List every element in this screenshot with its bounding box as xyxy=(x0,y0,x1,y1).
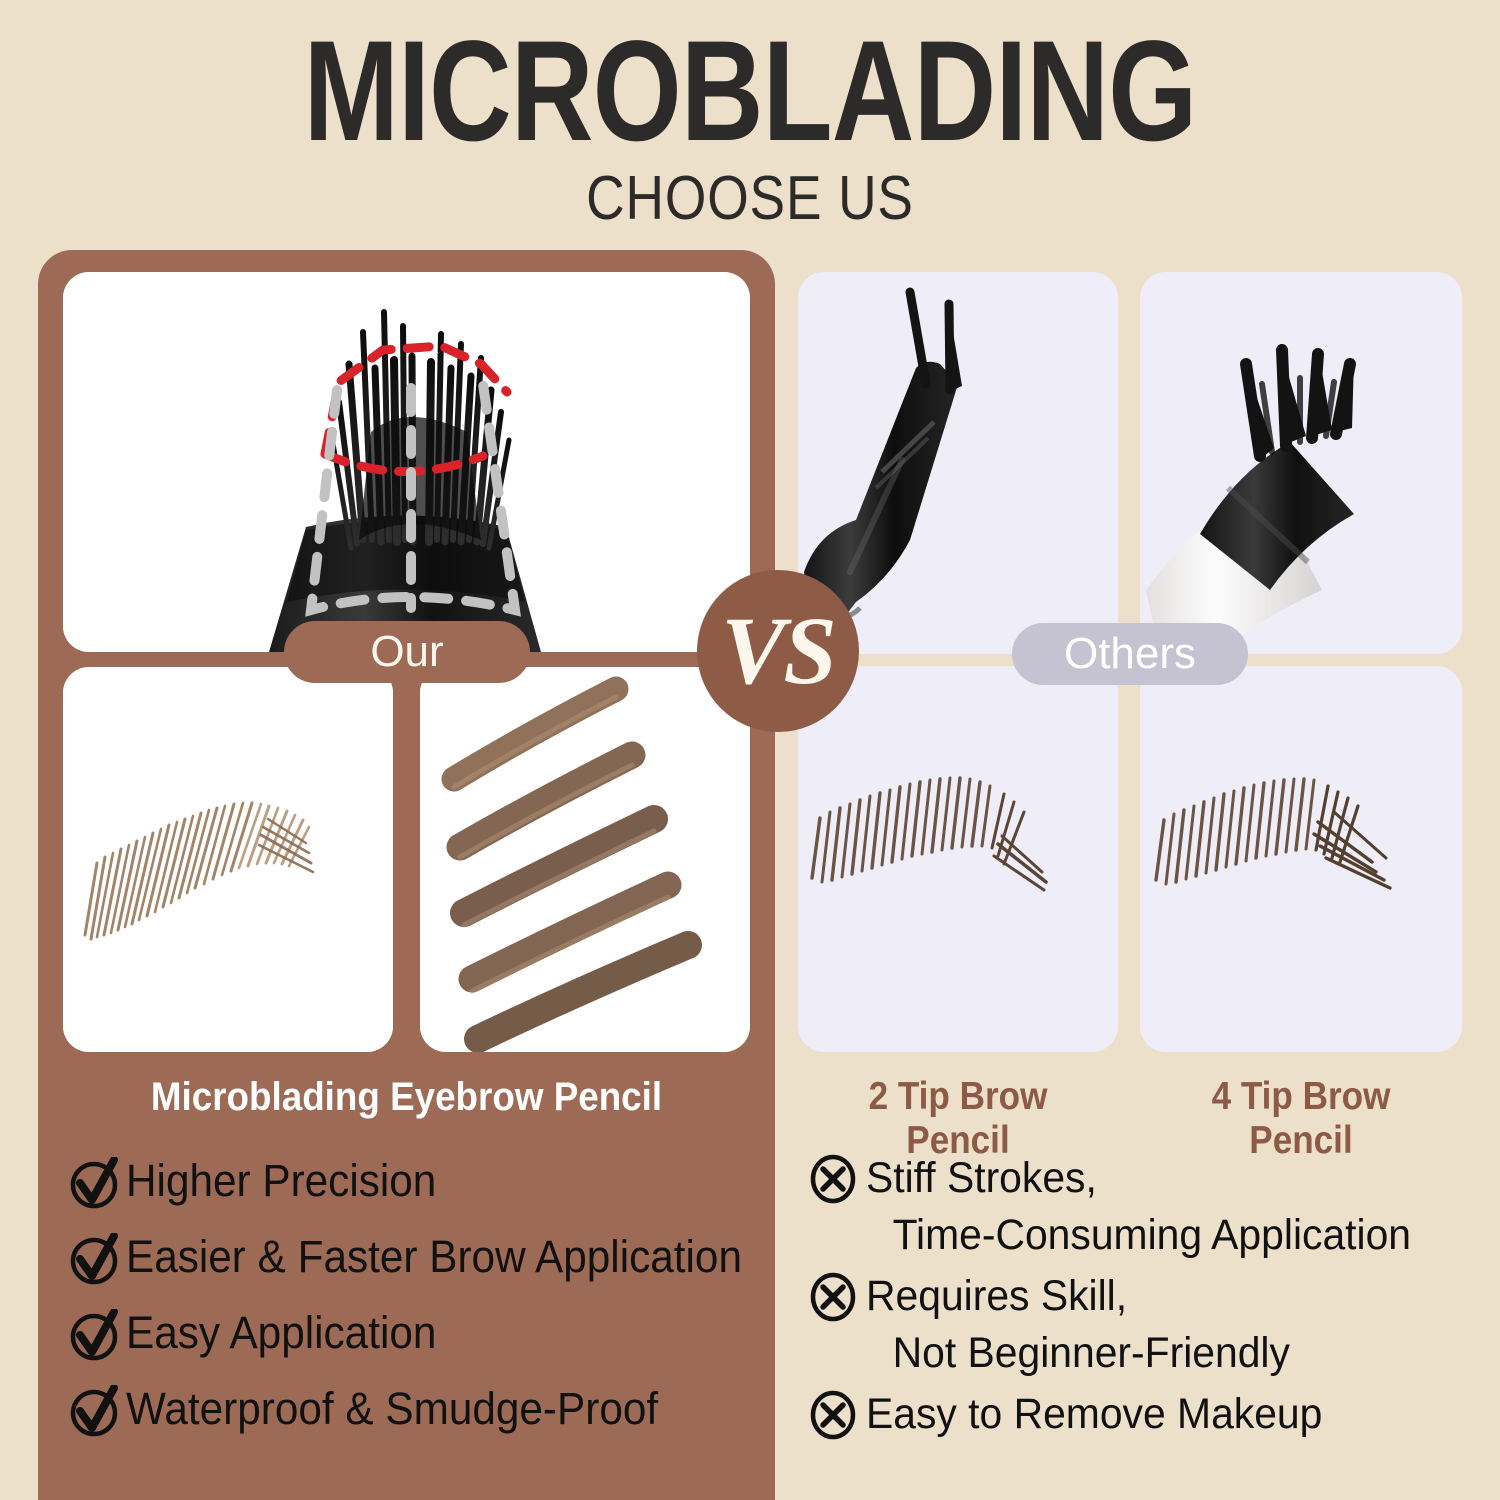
drawback-line-1: Stiff Strokes, xyxy=(866,1150,1438,1207)
vs-badge: VS xyxy=(697,570,859,732)
microblading-brush-tip-photo xyxy=(63,272,750,652)
feature-label: Higher Precision xyxy=(126,1155,436,1207)
feature-item: Easy Application xyxy=(68,1307,778,1363)
color-swatch-strokes-photo xyxy=(420,667,750,1052)
two-tip-brow-swatch-photo xyxy=(798,666,1118,1052)
drawback-item: Easy to Remove Makeup xyxy=(808,1386,1468,1443)
four-tip-pen-photo xyxy=(1140,272,1462,654)
x-circle-icon xyxy=(808,1272,858,1322)
our-feature-list: Higher Precision Easier & Faster Brow Ap… xyxy=(68,1155,778,1459)
page-subtitle: CHOOSE US xyxy=(105,168,1395,230)
check-circle-icon xyxy=(68,1233,120,1285)
header-block: MICROBLADING CHOOSE US xyxy=(0,0,1500,240)
feature-item: Waterproof & Smudge-Proof xyxy=(68,1383,778,1439)
drawback-line-2: Time-Consuming Application xyxy=(866,1207,1438,1264)
our-badge: Our xyxy=(284,621,530,683)
feature-label: Easier & Faster Brow Application xyxy=(126,1231,742,1283)
others-drawback-list: Stiff Strokes, Time-Consuming Applicatio… xyxy=(808,1150,1468,1447)
two-tip-pen-photo xyxy=(798,272,1118,654)
feature-label: Easy Application xyxy=(126,1307,436,1359)
check-circle-icon xyxy=(68,1309,120,1361)
x-circle-icon xyxy=(808,1154,858,1204)
drawback-line-2: Not Beginner-Friendly xyxy=(866,1325,1438,1382)
drawback-item: Requires Skill, Not Beginner-Friendly xyxy=(808,1268,1468,1382)
others-badge: Others xyxy=(1012,623,1248,685)
drawback-line-1: Requires Skill, xyxy=(866,1268,1438,1325)
x-circle-icon xyxy=(808,1390,858,1440)
four-tip-brow-swatch-photo xyxy=(1140,666,1462,1052)
drawback-item: Stiff Strokes, Time-Consuming Applicatio… xyxy=(808,1150,1468,1264)
our-product-label: Microblading Eyebrow Pencil xyxy=(67,1075,745,1120)
page-title: MICROBLADING xyxy=(150,20,1350,163)
check-circle-icon xyxy=(68,1157,120,1209)
others-product-area: 2 Tip Brow Pencil 4 Tip Brow Pencil Stif… xyxy=(798,250,1462,1500)
drawback-line-1: Easy to Remove Makeup xyxy=(866,1386,1438,1443)
feature-item: Higher Precision xyxy=(68,1155,778,1211)
feature-item: Easier & Faster Brow Application xyxy=(68,1231,778,1287)
our-product-panel: Microblading Eyebrow Pencil Higher Preci… xyxy=(38,250,775,1500)
fine-hair-stroke-brow-photo xyxy=(63,667,393,1052)
check-circle-icon xyxy=(68,1385,120,1437)
feature-label: Waterproof & Smudge-Proof xyxy=(126,1383,658,1435)
